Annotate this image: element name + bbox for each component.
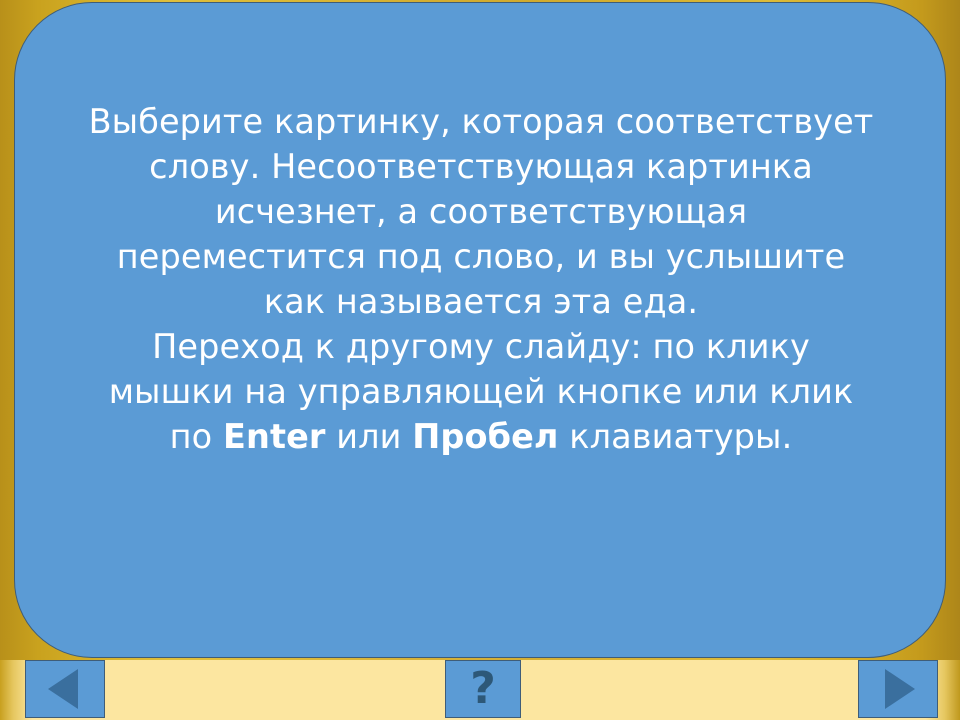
triangle-right-icon (885, 669, 915, 709)
instruction-line-2: слову. Несоответствующая картинка (45, 144, 917, 189)
instruction-line-4: переместится под слово, и вы услышите (45, 234, 917, 279)
instruction-line-1: Выберите картинку, которая соответствует (45, 99, 917, 144)
last-line-prefix: по (170, 417, 223, 456)
key-enter-label: Enter (223, 417, 326, 456)
instruction-line-7: мышки на управляющей кнопке или клик (45, 369, 917, 414)
content-panel: Выберите картинку, которая соответствует… (14, 2, 946, 658)
next-slide-button[interactable] (858, 660, 938, 718)
instruction-text-block: Выберите картинку, которая соответствует… (45, 99, 917, 459)
last-line-middle: или (326, 417, 413, 456)
instruction-line-3: исчезнет, а соответствующая (45, 189, 917, 234)
instruction-line-6: Переход к другому слайду: по клику (45, 324, 917, 369)
instruction-line-8: по Enter или Пробел клавиатуры. (45, 414, 917, 459)
previous-slide-button[interactable] (25, 660, 105, 718)
question-mark-icon: ? (470, 667, 496, 711)
slide-canvas: Выберите картинку, которая соответствует… (0, 0, 960, 720)
help-button[interactable]: ? (445, 660, 521, 718)
triangle-left-icon (48, 669, 78, 709)
last-line-suffix: клавиатуры. (559, 417, 793, 456)
instruction-line-5: как называется эта еда. (45, 279, 917, 324)
key-space-label: Пробел (412, 417, 558, 456)
